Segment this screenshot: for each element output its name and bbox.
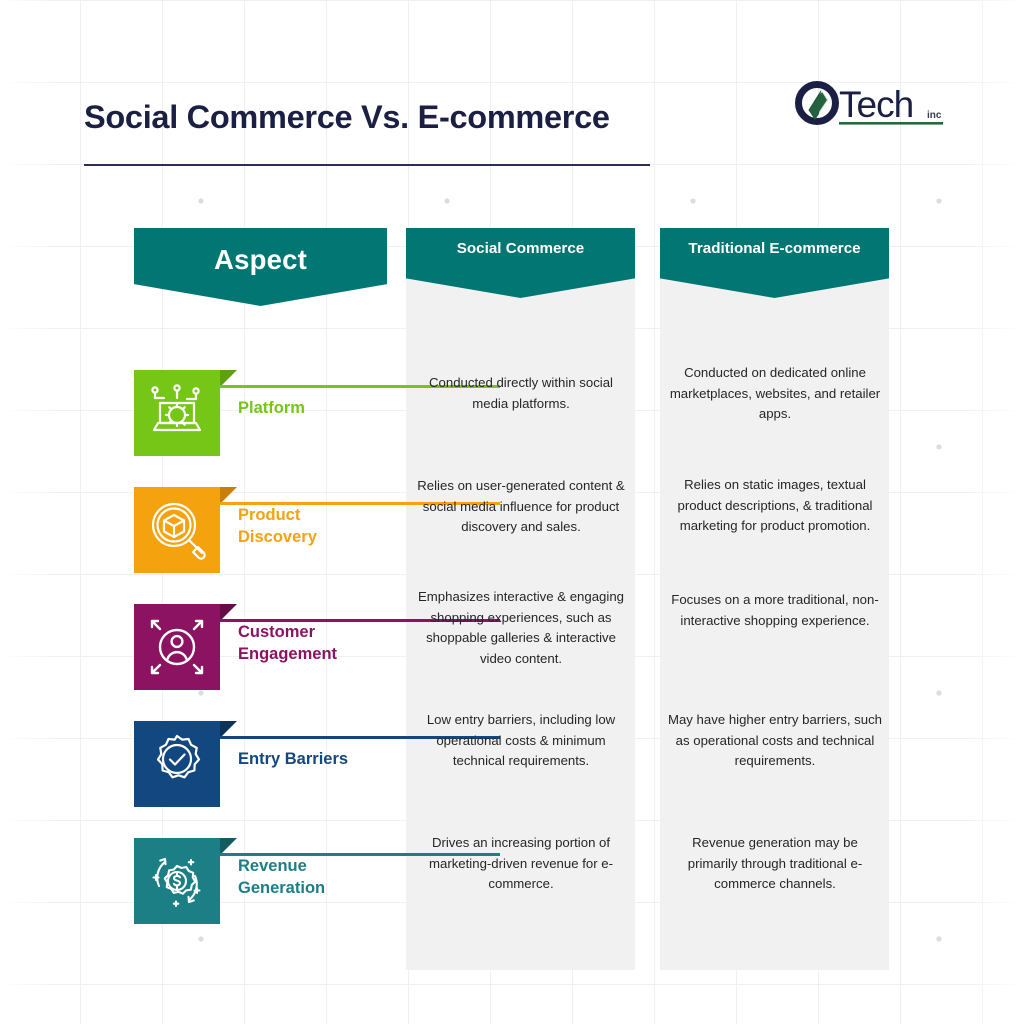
table-row: Platform bbox=[134, 370, 387, 456]
row-icon-customer-engagement bbox=[134, 604, 220, 690]
row-icon-revenue-generation bbox=[134, 838, 220, 924]
cell-traditional-revenue-generation: Revenue generation may be primarily thro… bbox=[666, 833, 884, 895]
column-header-social-commerce-label: Social Commerce bbox=[457, 228, 584, 258]
cell-social-platform: Conducted directly within social media p… bbox=[412, 373, 630, 414]
cell-social-customer-engagement: Emphasizes interactive & engaging shoppi… bbox=[412, 587, 630, 669]
column-header-traditional-ecommerce-label: Traditional E-commerce bbox=[688, 228, 860, 258]
row-label-entry-barriers: Entry Barriers bbox=[238, 749, 348, 771]
comparison-table: Aspect Social Commerce Traditional E-com… bbox=[0, 0, 1024, 1024]
table-row: Customer Engagement bbox=[134, 604, 387, 690]
table-row: Product Discovery bbox=[134, 487, 387, 573]
cell-traditional-customer-engagement: Focuses on a more traditional, non-inter… bbox=[666, 590, 884, 631]
table-row: Entry Barriers bbox=[134, 721, 387, 807]
row-label-revenue-generation: Revenue Generation bbox=[238, 856, 325, 900]
cell-traditional-entry-barriers: May have higher entry barriers, such as … bbox=[666, 710, 884, 772]
cell-social-product-discovery: Relies on user-generated content & socia… bbox=[412, 476, 630, 538]
row-label-platform: Platform bbox=[238, 398, 305, 420]
table-row: Revenue Generation bbox=[134, 838, 387, 924]
cell-traditional-product-discovery: Relies on static images, textual product… bbox=[666, 475, 884, 537]
row-label-customer-engagement: Customer Engagement bbox=[238, 622, 337, 666]
row-icon-product-discovery bbox=[134, 487, 220, 573]
row-icon-entry-barriers bbox=[134, 721, 220, 807]
cell-social-entry-barriers: Low entry barriers, including low operat… bbox=[412, 710, 630, 772]
row-icon-platform bbox=[134, 370, 220, 456]
cell-social-revenue-generation: Drives an increasing portion of marketin… bbox=[412, 833, 630, 895]
column-header-aspect: Aspect bbox=[134, 228, 387, 306]
column-header-aspect-label: Aspect bbox=[214, 228, 307, 276]
row-label-product-discovery: Product Discovery bbox=[238, 505, 317, 549]
cell-traditional-platform: Conducted on dedicated online marketplac… bbox=[666, 363, 884, 425]
